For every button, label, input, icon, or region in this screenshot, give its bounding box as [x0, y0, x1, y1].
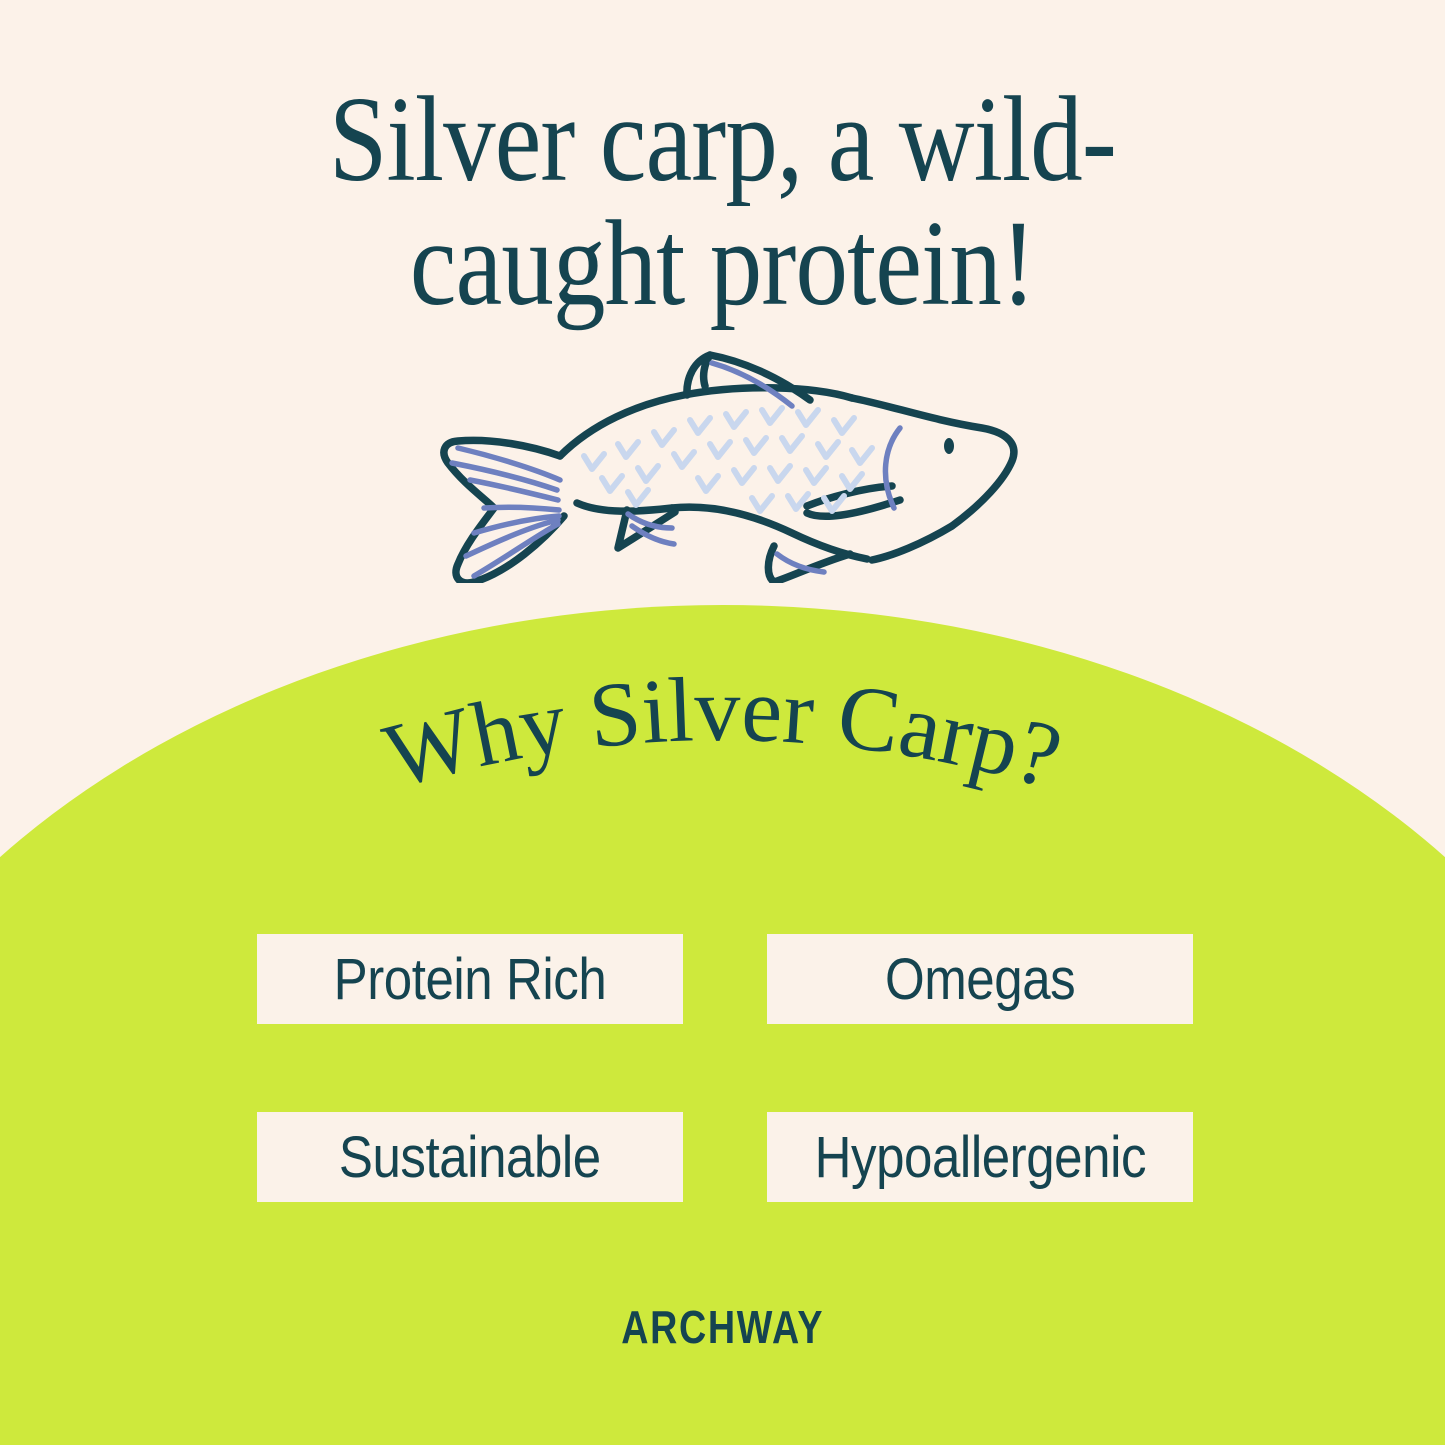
section-heading-text: Why Silver Carp?: [374, 658, 1072, 808]
fish-icon: [422, 328, 1032, 583]
section-heading: Why Silver Carp?: [0, 650, 1445, 830]
benefit-label: Protein Rich: [334, 946, 607, 1013]
benefit-label: Sustainable: [339, 1124, 601, 1191]
benefit-box-protein-rich[interactable]: Protein Rich: [257, 934, 683, 1024]
silver-carp-fish-illustration: [422, 328, 1032, 583]
poster-canvas: Silver carp, a wild- caught protein!: [0, 0, 1445, 1445]
benefit-label: Hypoallergenic: [814, 1124, 1145, 1191]
benefit-box-sustainable[interactable]: Sustainable: [257, 1112, 683, 1202]
page-title: Silver carp, a wild- caught protein!: [101, 78, 1344, 327]
brand-logo-text: ARCHWAY: [621, 1300, 824, 1354]
benefit-label: Omegas: [885, 946, 1075, 1013]
fish-eye-icon: [944, 438, 954, 454]
benefit-box-omegas[interactable]: Omegas: [767, 934, 1193, 1024]
brand-logo[interactable]: ARCHWAY: [0, 1300, 1445, 1354]
benefit-box-hypoallergenic[interactable]: Hypoallergenic: [767, 1112, 1193, 1202]
